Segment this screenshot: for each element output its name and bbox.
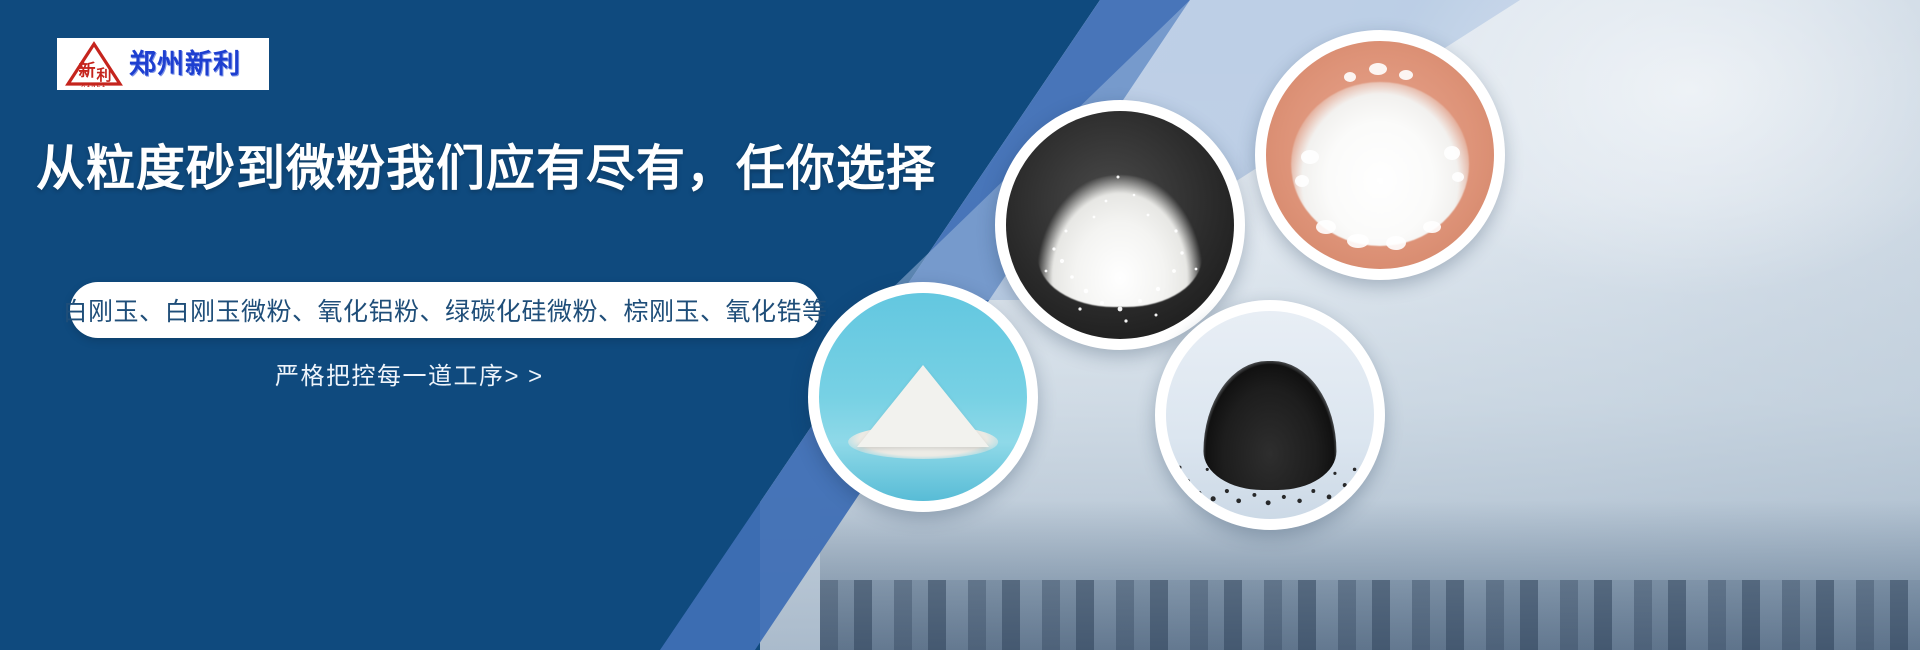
city-skyline: [820, 500, 1920, 650]
product-photo: [819, 293, 1027, 501]
powder-clumps: [1266, 41, 1494, 269]
product-photo: [1266, 41, 1494, 269]
product-list-text: 白刚玉、白刚玉微粉、氧化铝粉、绿碳化硅微粉、棕刚玉、氧化锆等: [63, 292, 828, 328]
grain-speckles: [1006, 111, 1234, 339]
company-wordmark: 郑州新利: [129, 51, 241, 78]
banner-headline: 从粒度砂到微粉我们应有尽有，任你选择: [36, 142, 1036, 197]
process-tagline-link[interactable]: 严格把控每一道工序> >: [275, 328, 795, 418]
black-grain-scatter: [1166, 436, 1370, 507]
svg-text:XINLI: XINLI: [81, 81, 107, 88]
company-logo[interactable]: 新 利 XINLI 郑州新利: [57, 38, 269, 90]
product-circle-white-grain[interactable]: [995, 100, 1245, 350]
powder-cone: [857, 365, 989, 447]
promo-banner: 新 利 XINLI 郑州新利 从粒度砂到微粉我们应有尽有，任你选择 白刚玉、白刚…: [0, 0, 1920, 650]
product-photo: [1006, 111, 1234, 339]
product-circle-black-grain[interactable]: [1155, 300, 1385, 530]
product-circle-white-powder[interactable]: [1255, 30, 1505, 280]
product-circle-powder-cone[interactable]: [808, 282, 1038, 512]
svg-text:新: 新: [79, 60, 96, 81]
product-photo: [1166, 311, 1374, 519]
triangle-logo-icon: 新 利 XINLI: [65, 40, 123, 88]
